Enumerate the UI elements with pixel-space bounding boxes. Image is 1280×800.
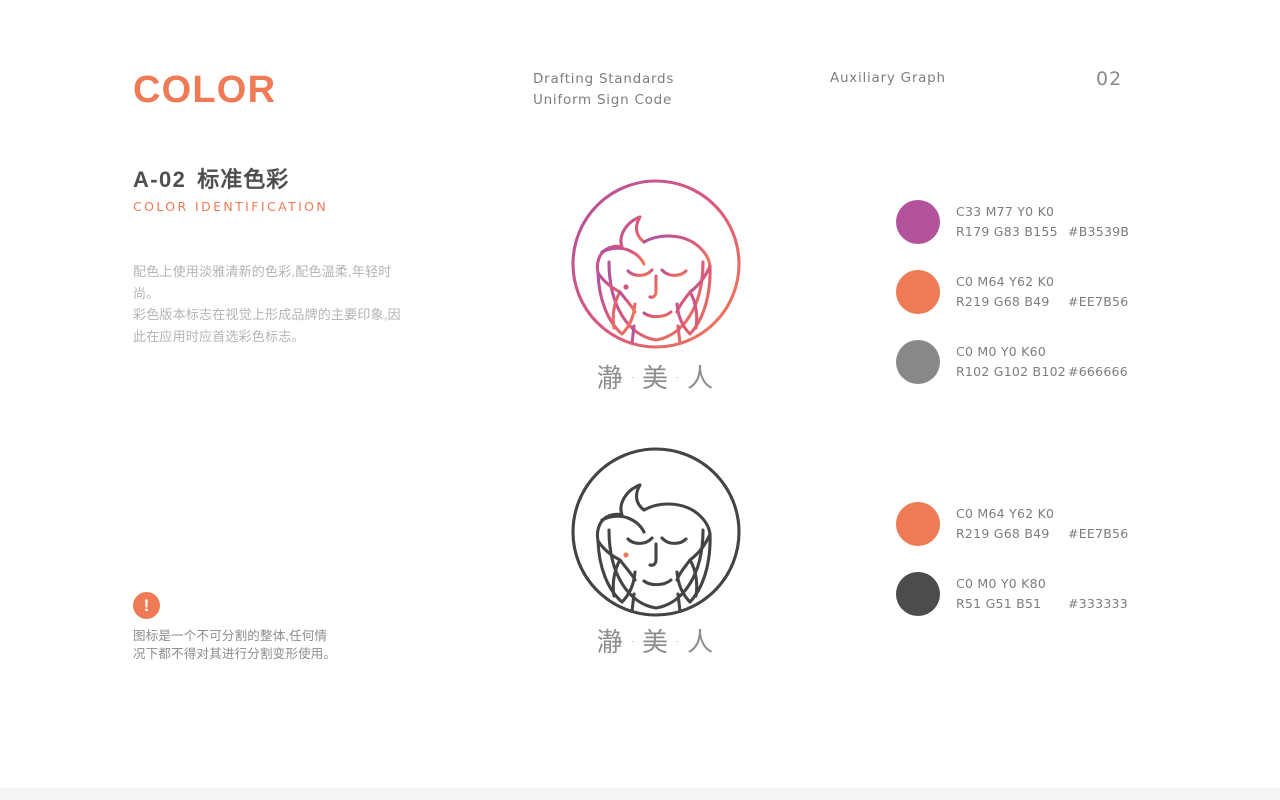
- mono-logo-palette: C0 M64 Y62 K0 R219 G68 B49 #EE7B56 C0 M0…: [896, 502, 1128, 616]
- drafting-standards-block: Drafting Standards Uniform Sign Code: [533, 69, 674, 111]
- mono-logo-artwork: [556, 444, 756, 624]
- slide-canvas: COLOR Drafting Standards Uniform Sign Co…: [0, 0, 1280, 800]
- swatch-cmyk: C0 M0 Y0 K80: [956, 574, 1128, 594]
- note-line-1: 图标是一个不可分割的整体,任何情: [133, 628, 383, 646]
- swatch-cmyk: C0 M64 Y62 K0: [956, 504, 1128, 524]
- swatch-circle-orange: [896, 270, 940, 314]
- section-description: 配色上使用淡雅清新的色彩,配色温柔,年轻时尚。 彩色版本标志在视觉上形成品牌的主…: [133, 261, 405, 347]
- swatch-circle-orange: [896, 502, 940, 546]
- wordmark-separator-2: ·: [675, 632, 682, 651]
- swatch-line2: R179 G83 B155 #B3539B: [956, 222, 1129, 242]
- swatch-line2: R51 G51 B51 #333333: [956, 594, 1128, 614]
- section-subtitle: COLOR IDENTIFICATION: [133, 199, 328, 214]
- swatch-rgb: R219 G68 B49: [956, 292, 1068, 312]
- wordmark-char-1: 瀞: [597, 364, 625, 394]
- swatch-info: C0 M0 Y0 K80 R51 G51 B51 #333333: [956, 574, 1128, 614]
- wordmark-char-2: 美: [642, 628, 670, 658]
- swatch-rgb: R51 G51 B51: [956, 594, 1068, 614]
- swatch-rgb: R102 G102 B102: [956, 362, 1068, 382]
- swatch-cmyk: C33 M77 Y0 K0: [956, 202, 1129, 222]
- swatch-hex: #B3539B: [1068, 222, 1129, 242]
- mono-logo: [556, 444, 756, 629]
- section-heading: A-02标准色彩: [133, 162, 289, 194]
- color-logo-artwork: [556, 176, 756, 356]
- note-text: 图标是一个不可分割的整体,任何情 况下都不得对其进行分割变形使用。: [133, 628, 383, 663]
- swatch-hex: #EE7B56: [1068, 292, 1128, 312]
- color-logo-palette: C33 M77 Y0 K0 R179 G83 B155 #B3539B C0 M…: [896, 200, 1129, 384]
- beauty-mark: [623, 284, 628, 289]
- footer-strip: [0, 788, 1280, 800]
- swatch-row: C0 M64 Y62 K0 R219 G68 B49 #EE7B56: [896, 502, 1128, 546]
- color-logo-wordmark: 瀞·美·人: [556, 358, 756, 395]
- swatch-cmyk: C0 M0 Y0 K60: [956, 342, 1128, 362]
- wordmark-separator-1: ·: [630, 368, 637, 387]
- drafting-standards-line2: Uniform Sign Code: [533, 90, 674, 111]
- swatch-info: C0 M64 Y62 K0 R219 G68 B49 #EE7B56: [956, 272, 1128, 312]
- drafting-standards-line1: Drafting Standards: [533, 69, 674, 90]
- wordmark-char-2: 美: [642, 364, 670, 394]
- page-number: 02: [1096, 68, 1122, 90]
- mono-logo-wordmark: 瀞·美·人: [556, 622, 756, 659]
- section-code: A-02: [133, 167, 186, 192]
- wordmark-char-3: 人: [687, 628, 715, 658]
- beauty-mark: [623, 552, 628, 557]
- exclamation-icon: !: [133, 592, 160, 619]
- swatch-cmyk: C0 M64 Y62 K0: [956, 272, 1128, 292]
- description-line-2: 彩色版本标志在视觉上形成品牌的主要印象,因此在应用时应首选彩色标志。: [133, 304, 405, 347]
- swatch-rgb: R219 G68 B49: [956, 524, 1068, 544]
- wordmark-separator-1: ·: [630, 632, 637, 651]
- swatch-circle-magenta: [896, 200, 940, 244]
- swatch-circle-dark: [896, 572, 940, 616]
- exclamation-glyph: !: [144, 597, 150, 614]
- wordmark-separator-2: ·: [675, 368, 682, 387]
- page-title: COLOR: [133, 66, 276, 114]
- swatch-hex: #EE7B56: [1068, 524, 1128, 544]
- swatch-line2: R219 G68 B49 #EE7B56: [956, 292, 1128, 312]
- swatch-row: C0 M0 Y0 K80 R51 G51 B51 #333333: [896, 572, 1128, 616]
- note-line-2: 况下都不得对其进行分割变形使用。: [133, 646, 383, 664]
- wordmark-char-1: 瀞: [597, 628, 625, 658]
- auxiliary-graph-label: Auxiliary Graph: [830, 70, 946, 86]
- swatch-line2: R102 G102 B102 #666666: [956, 362, 1128, 382]
- swatch-info: C0 M64 Y62 K0 R219 G68 B49 #EE7B56: [956, 504, 1128, 544]
- section-code-cn: 标准色彩: [197, 167, 289, 192]
- swatch-rgb: R179 G83 B155: [956, 222, 1068, 242]
- swatch-row: C0 M64 Y62 K0 R219 G68 B49 #EE7B56: [896, 270, 1129, 314]
- swatch-circle-gray: [896, 340, 940, 384]
- swatch-info: C33 M77 Y0 K0 R179 G83 B155 #B3539B: [956, 202, 1129, 242]
- swatch-info: C0 M0 Y0 K60 R102 G102 B102 #666666: [956, 342, 1128, 382]
- swatch-line2: R219 G68 B49 #EE7B56: [956, 524, 1128, 544]
- swatch-hex: #333333: [1068, 594, 1128, 614]
- swatch-row: C33 M77 Y0 K0 R179 G83 B155 #B3539B: [896, 200, 1129, 244]
- description-line-1: 配色上使用淡雅清新的色彩,配色温柔,年轻时尚。: [133, 261, 405, 304]
- swatch-hex: #666666: [1068, 362, 1128, 382]
- wordmark-char-3: 人: [687, 364, 715, 394]
- color-logo: [556, 176, 756, 361]
- swatch-row: C0 M0 Y0 K60 R102 G102 B102 #666666: [896, 340, 1129, 384]
